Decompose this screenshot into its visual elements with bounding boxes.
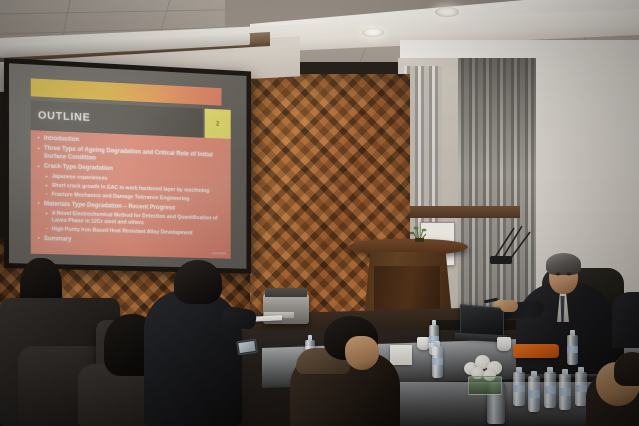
slide-title: OUTLINE xyxy=(31,109,91,124)
downlight-icon xyxy=(362,28,384,37)
eyes-icon xyxy=(551,270,577,278)
slide-page-number-box: 2 xyxy=(205,109,230,139)
audience-hair xyxy=(174,260,222,304)
audience-torso xyxy=(612,292,639,348)
presentation-slide: OUTLINE 2 IntroductionThree Type of Agei… xyxy=(9,63,246,268)
glass-vase xyxy=(468,376,502,395)
plant-icon xyxy=(404,222,434,242)
downlight-icon xyxy=(435,7,459,17)
phone-screen xyxy=(238,341,255,353)
audience-hair xyxy=(614,352,639,386)
screen-surface: OUTLINE 2 IntroductionThree Type of Agei… xyxy=(9,63,246,268)
white-rose-arrangement xyxy=(462,352,508,392)
printer-top-cover xyxy=(265,288,307,297)
orange-folded-cloth xyxy=(513,344,559,358)
water-bottle xyxy=(567,335,578,365)
water-bottle xyxy=(544,372,556,408)
slide-page-number: 2 xyxy=(216,120,220,127)
audience-head xyxy=(345,336,379,370)
slide-bullet-list: IntroductionThree Type of Ageing Degrada… xyxy=(31,130,230,259)
water-bottle xyxy=(513,372,525,406)
mobile-phone xyxy=(236,339,258,356)
conference-room-photo: OUTLINE 2 IntroductionThree Type of Agei… xyxy=(0,0,639,426)
tissue-box xyxy=(390,345,412,365)
microphone-icon xyxy=(488,222,536,264)
water-bottle xyxy=(559,374,571,410)
water-bottle xyxy=(528,376,540,412)
ceramic-cup xyxy=(497,337,511,351)
water-bottle xyxy=(432,346,443,378)
wood-wainscot-band xyxy=(400,206,520,218)
hand xyxy=(500,300,518,312)
slide-footer-logo: IHI/NIMS xyxy=(212,251,227,255)
projection-screen: OUTLINE 2 IntroductionThree Type of Agei… xyxy=(4,58,251,274)
